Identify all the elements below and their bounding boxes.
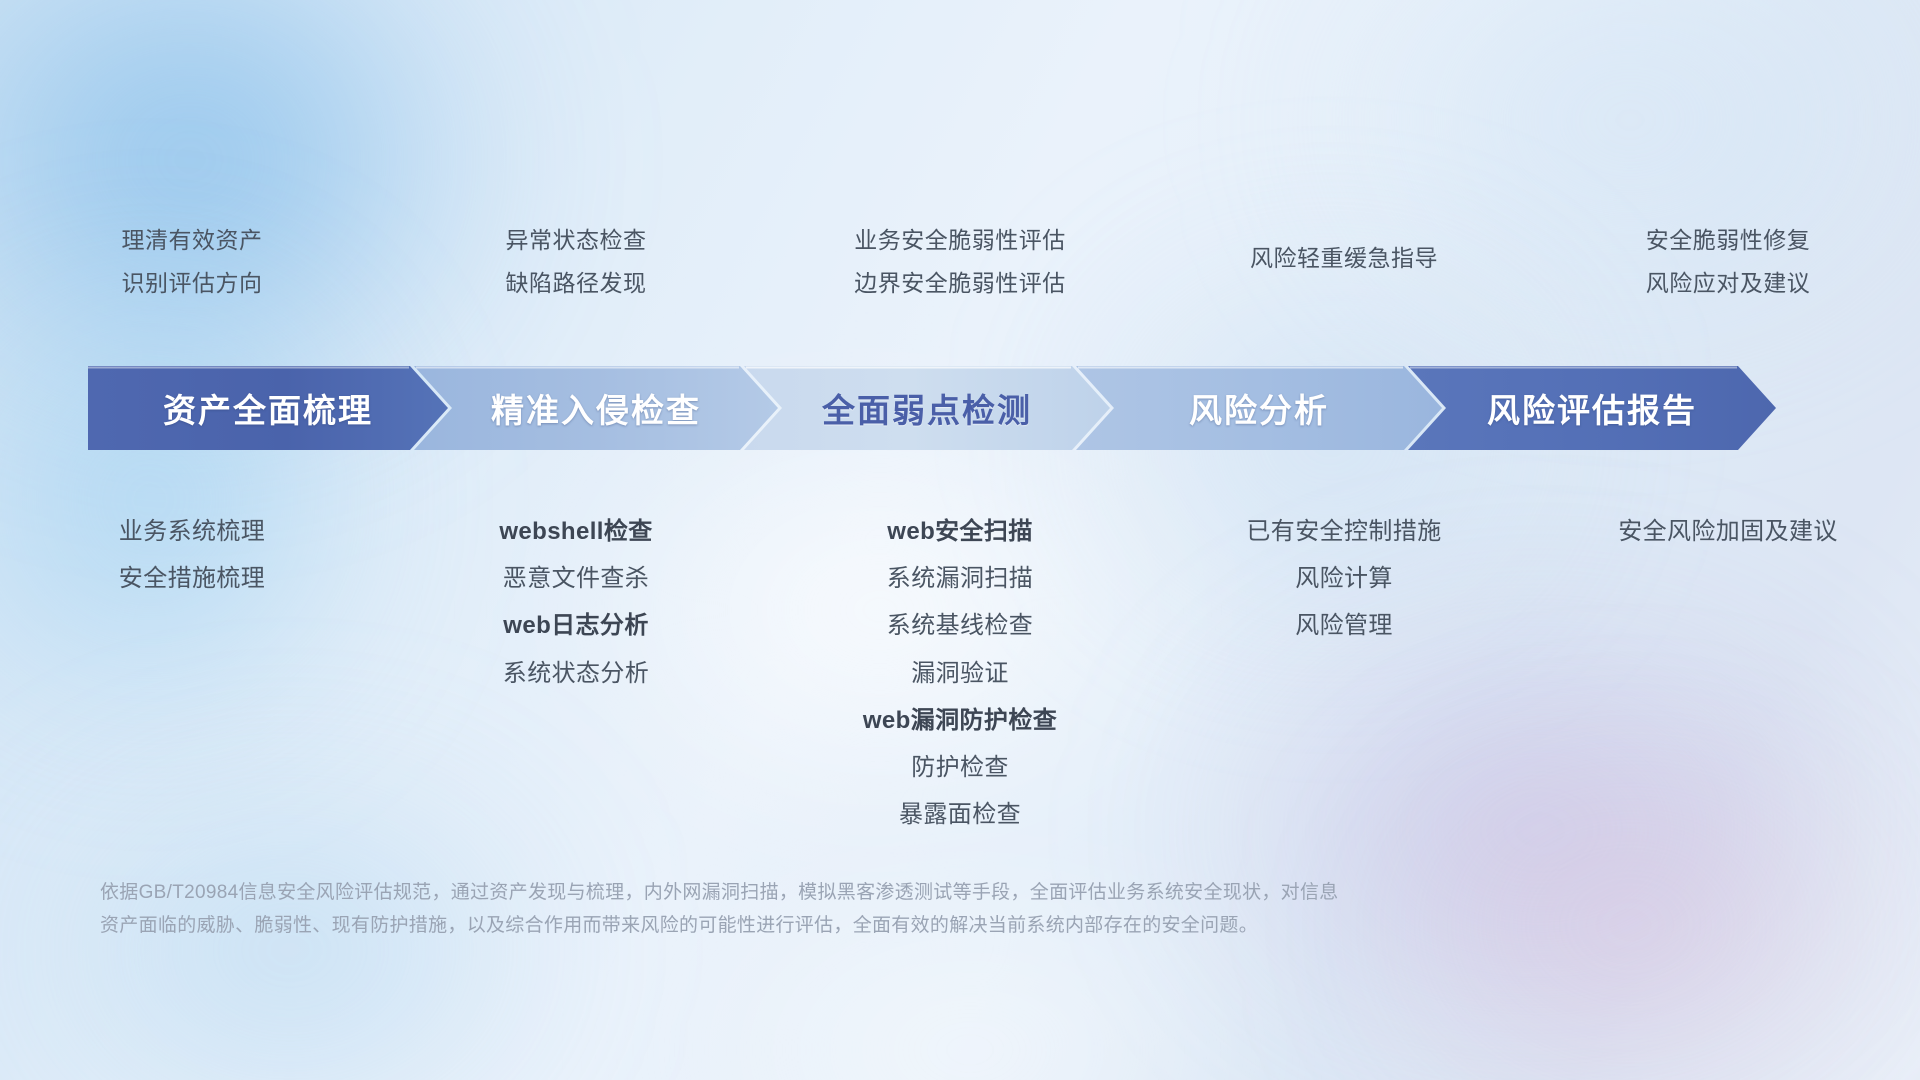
top-caption: 识别评估方向 [122, 269, 263, 298]
chevron-stage-intrusion-check[interactable]: 精准入侵检查 [414, 366, 778, 450]
list-item: 风险管理 [1295, 610, 1393, 641]
top-captions-intrusion-check: 异常状态检查 缺陷路径发现 [384, 222, 768, 342]
list-item: 防护检查 [911, 752, 1009, 783]
list-item: 风险计算 [1295, 563, 1393, 594]
chevron-label: 资产全面梳理 [163, 384, 373, 432]
list-item: webshell检查 [499, 516, 652, 547]
chevron-label: 精准入侵检查 [491, 384, 701, 432]
detail-list-weakness-detection: web安全扫描 系统漏洞扫描 系统基线检查 漏洞验证 web漏洞防护检查 防护检… [768, 500, 1152, 830]
chevron-stage-weakness-detection[interactable]: 全面弱点检测 [744, 366, 1110, 450]
list-item: 业务系统梳理 [119, 516, 265, 547]
list-item: 安全风险加固及建议 [1618, 516, 1838, 547]
top-caption: 缺陷路径发现 [506, 269, 647, 298]
process-chevron-ribbon: 资产全面梳理 [88, 366, 1848, 450]
top-caption: 理清有效资产 [122, 226, 263, 255]
list-item: 已有安全控制措施 [1246, 516, 1441, 547]
list-item: 系统漏洞扫描 [887, 563, 1033, 594]
chevron-stage-risk-analysis[interactable]: 风险分析 [1076, 366, 1442, 450]
chevron-stage-risk-report[interactable]: 风险评估报告 [1408, 366, 1776, 450]
list-item: 安全措施梳理 [119, 563, 265, 594]
footer-note: 依据GB/T20984信息安全风险评估规范，通过资产发现与梳理，内外网漏洞扫描，… [100, 876, 1740, 943]
chevron-label: 风险评估报告 [1487, 384, 1697, 432]
chevron-label: 全面弱点检测 [822, 384, 1032, 432]
infographic-canvas: 理清有效资产 识别评估方向 异常状态检查 缺陷路径发现 业务安全脆弱性评估 边界… [0, 0, 1920, 1080]
list-item: 漏洞验证 [911, 658, 1009, 689]
list-item: 系统基线检查 [887, 610, 1033, 641]
top-caption: 边界安全脆弱性评估 [854, 269, 1066, 298]
top-caption: 业务安全脆弱性评估 [854, 226, 1066, 255]
detail-list-asset-inventory: 业务系统梳理 安全措施梳理 [0, 500, 384, 594]
list-item: 暴露面检查 [899, 799, 1021, 830]
list-item: web漏洞防护检查 [863, 705, 1057, 736]
list-item: 恶意文件查杀 [503, 563, 649, 594]
footer-line-1: 依据GB/T20984信息安全风险评估规范，通过资产发现与梳理，内外网漏洞扫描，… [100, 876, 1740, 909]
detail-list-risk-analysis: 已有安全控制措施 风险计算 风险管理 [1152, 500, 1536, 642]
chevron-stage-asset-inventory[interactable]: 资产全面梳理 [88, 366, 448, 450]
list-item: web安全扫描 [887, 516, 1032, 547]
top-captions-weakness-detection: 业务安全脆弱性评估 边界安全脆弱性评估 [768, 222, 1152, 342]
top-caption: 风险应对及建议 [1646, 269, 1811, 298]
top-caption-band: 理清有效资产 识别评估方向 异常状态检查 缺陷路径发现 业务安全脆弱性评估 边界… [0, 222, 1920, 342]
detail-list-intrusion-check: webshell检查 恶意文件查杀 web日志分析 系统状态分析 [384, 500, 768, 689]
top-captions-risk-analysis: 风险轻重缓急指导 [1152, 222, 1536, 342]
top-caption: 安全脆弱性修复 [1646, 226, 1811, 255]
top-caption: 异常状态检查 [506, 226, 647, 255]
top-caption: 风险轻重缓急指导 [1250, 244, 1438, 273]
bottom-detail-band: 业务系统梳理 安全措施梳理 webshell检查 恶意文件查杀 web日志分析 … [0, 500, 1920, 830]
detail-list-risk-report: 安全风险加固及建议 [1536, 500, 1920, 547]
footer-line-2: 资产面临的威胁、脆弱性、现有防护措施，以及综合作用而带来风险的可能性进行评估，全… [100, 909, 1740, 942]
chevron-label: 风险分析 [1189, 384, 1329, 432]
top-captions-risk-report: 安全脆弱性修复 风险应对及建议 [1536, 222, 1920, 342]
list-item: 系统状态分析 [503, 658, 649, 689]
list-item: web日志分析 [503, 610, 648, 641]
top-captions-asset-inventory: 理清有效资产 识别评估方向 [0, 222, 384, 342]
